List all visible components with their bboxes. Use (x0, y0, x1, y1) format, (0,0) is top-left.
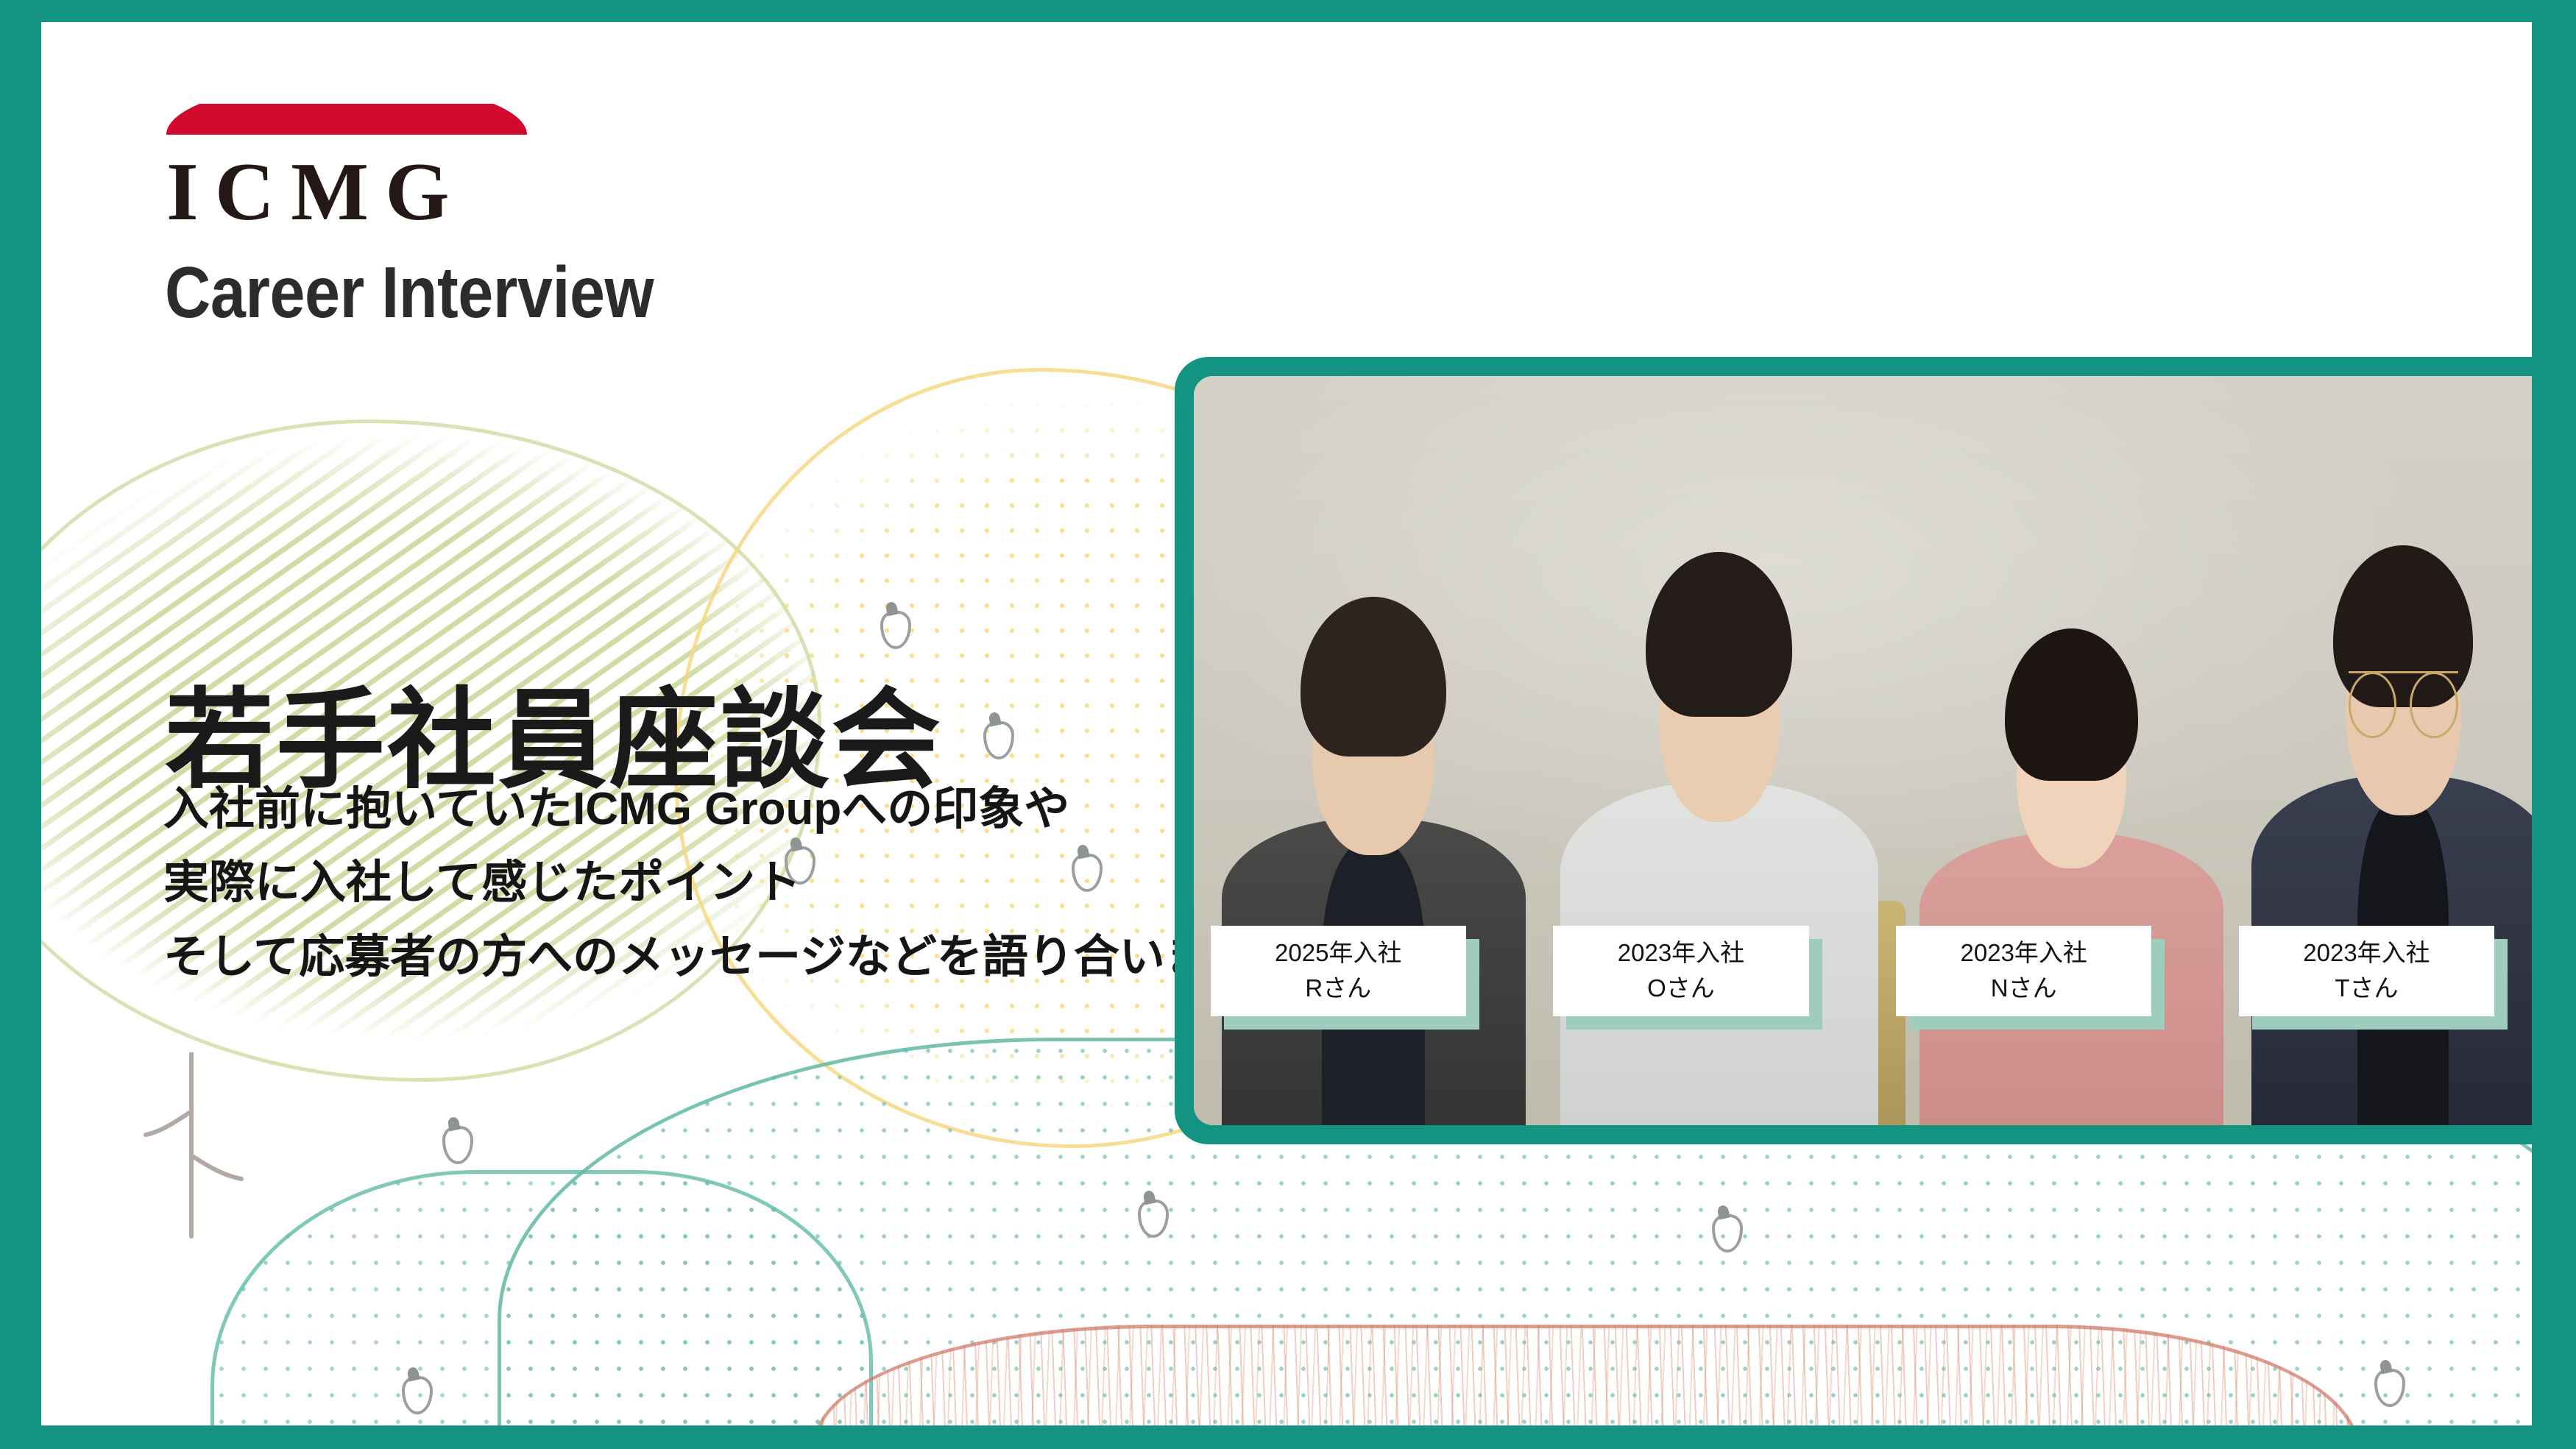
glasses-icon (2349, 671, 2458, 720)
lead-paragraph: 入社前に抱いていたICMG Groupへの印象や 実際に入社して感じたポイント … (163, 773, 1302, 994)
nameplate-person-3: 2023年入社 Nさん (1896, 926, 2151, 1017)
nameplate-person-4: 2023年入社 Tさん (2239, 926, 2494, 1017)
interview-photo-card: 2025年入社 Rさん 2023年入社 Oさん 2023年入社 Nさん 2023… (1175, 357, 2532, 1144)
photo-person-4 (2251, 451, 2532, 1125)
nameplate-year: 2023年入社 (1553, 935, 1808, 971)
slide-canvas: ICMG Career Interview 若手社員座談会 入社前に抱いていたI… (41, 22, 2532, 1425)
nameplate-name: Oさん (1553, 971, 1808, 1006)
acorn-bird-motif (1138, 1200, 1169, 1238)
person-3-hair (2005, 628, 2139, 780)
acorn-bird-motif (983, 721, 1014, 759)
red-arc-mark-icon (166, 82, 527, 135)
nameplate-year: 2023年入社 (1896, 935, 2151, 971)
nameplate-name: Rさん (1211, 971, 1466, 1006)
acorn-bird-motif (442, 1126, 473, 1164)
photo-person-3 (1919, 541, 2223, 1125)
brand-logo: ICMG (166, 92, 527, 233)
acorn-bird-motif (880, 611, 911, 649)
acorn-bird-motif (1712, 1214, 1743, 1253)
lead-line-1: 入社前に抱いていたICMG Groupへの印象や (163, 773, 1302, 846)
brand-tagline: Career Interview (165, 256, 654, 328)
brand-wordmark: ICMG (166, 151, 527, 233)
nameplate-person-2: 2023年入社 Oさん (1553, 926, 1808, 1017)
lead-line-2: 実際に入社して感じたポイント (163, 846, 1302, 920)
nameplate-name: Tさん (2239, 971, 2494, 1006)
dashed-cloud-shape-small (210, 1170, 873, 1425)
coral-foliage-shape (814, 1325, 2360, 1425)
person-1-hair (1301, 597, 1446, 757)
nameplate-person-1: 2025年入社 Rさん (1211, 926, 1466, 1017)
nameplate-year: 2023年入社 (2239, 935, 2494, 971)
acorn-bird-motif (2374, 1369, 2405, 1407)
lead-line-3: そして応募者の方へのメッセージなどを語り合いました (163, 921, 1302, 994)
tree-trunk-icon (124, 1052, 263, 1244)
nameplate-year: 2025年入社 (1211, 935, 1466, 971)
group-photo: 2025年入社 Rさん 2023年入社 Oさん 2023年入社 Nさん 2023… (1194, 376, 2532, 1125)
slide-root: ICMG Career Interview 若手社員座談会 入社前に抱いていたI… (0, 0, 2576, 1449)
acorn-bird-motif (402, 1376, 433, 1414)
nameplate-name: Nさん (1896, 971, 2151, 1006)
photo-person-1 (1222, 511, 1526, 1125)
photo-person-2 (1560, 466, 1878, 1125)
person-2-hair (1646, 552, 1792, 717)
